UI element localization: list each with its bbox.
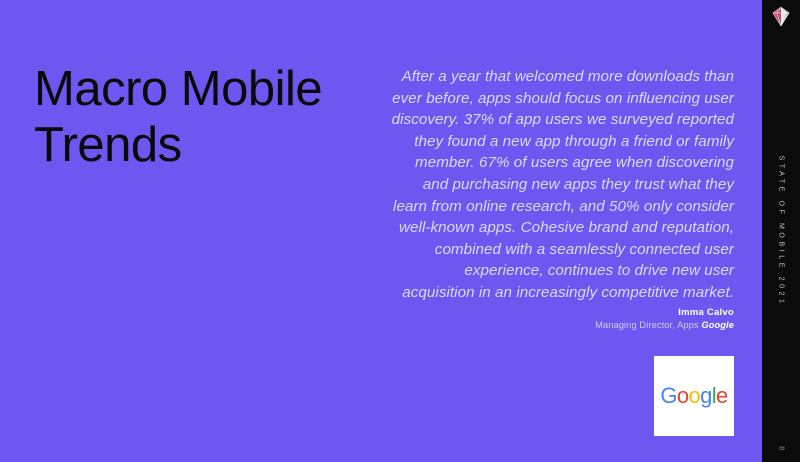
attribution-name: Imma Calvo [388,306,734,319]
slide-root: Macro Mobile Trends After a year that we… [0,0,800,462]
attribution-role-line: Managing Director, Apps Google [388,319,734,332]
side-rail: STATE OF MOBILE 2021 8 [762,0,800,462]
google-logo-card: Google [654,356,734,436]
attribution-company: Google [701,320,734,330]
quote-attribution: Imma Calvo Managing Director, Apps Googl… [388,306,734,332]
rail-caption: STATE OF MOBILE 2021 [778,155,785,306]
google-logo-letter-3: g [700,383,712,408]
google-logo-letter-0: G [660,383,677,408]
page-number: 8 [778,446,785,450]
google-logo-letter-1: o [677,383,689,408]
google-logo-letter-2: o [688,383,700,408]
slide-canvas: Macro Mobile Trends After a year that we… [0,0,762,462]
diamond-icon [768,4,794,30]
google-logo-letter-5: e [716,383,728,408]
google-logo: Google [660,385,727,407]
page-title: Macro Mobile Trends [34,61,394,173]
quote-block: After a year that welcomed more download… [388,66,734,304]
attribution-role: Managing Director, Apps [595,320,701,330]
quote-text: After a year that welcomed more download… [388,66,734,304]
